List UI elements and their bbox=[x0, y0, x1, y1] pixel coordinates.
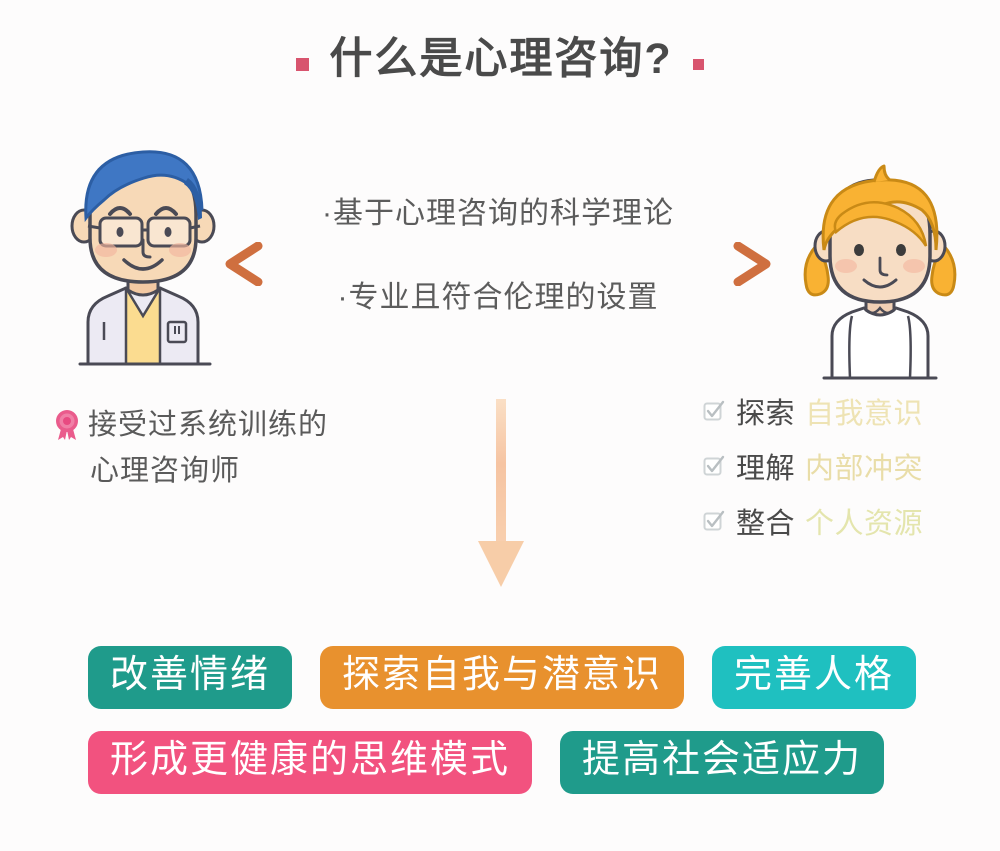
counselor-caption-row: 接受过系统训练的 bbox=[52, 404, 412, 446]
infographic-canvas: 什么是心理咨询? bbox=[0, 0, 1000, 851]
checklist-item: 整合 个人资源 bbox=[702, 500, 962, 542]
relationship-arrow-line-1: ·基于心理咨询的科学理论 bbox=[322, 196, 674, 232]
relationship-arrow-block: ·基于心理咨询的科学理论 ·专业且符合伦理的设置 bbox=[218, 196, 778, 316]
checklist-item-strong: 理解 bbox=[736, 445, 795, 487]
avatar-counselor-male bbox=[48, 126, 238, 366]
title-bullet-left-icon bbox=[296, 58, 309, 71]
checkbox-checked-icon bbox=[702, 399, 726, 423]
checklist-item-strong: 整合 bbox=[736, 500, 795, 542]
counselor-caption: 接受过系统训练的 心理咨询师 bbox=[52, 404, 412, 492]
outcome-tags: 改善情绪 探索自我与潜意识 完善人格 形成更健康的思维模式 提高社会适应力 bbox=[0, 646, 1000, 794]
page-title: 什么是心理咨询? bbox=[329, 36, 672, 83]
outcome-tags-row-1: 改善情绪 探索自我与潜意识 完善人格 bbox=[0, 646, 1000, 709]
counselor-caption-line-2-wrap: 心理咨询师 bbox=[52, 450, 412, 492]
counselor-caption-line-1: 接受过系统训练的 bbox=[88, 404, 328, 446]
outcome-tag[interactable]: 探索自我与潜意识 bbox=[320, 646, 684, 709]
title-bullet-right-icon bbox=[693, 59, 704, 70]
outcome-tag[interactable]: 改善情绪 bbox=[88, 646, 292, 709]
relationship-arrow-text-lines: ·基于心理咨询的科学理论 ·专业且符合伦理的设置 bbox=[268, 196, 728, 316]
outcome-tag[interactable]: 形成更健康的思维模式 bbox=[88, 731, 532, 794]
checklist-item-faint: 内部冲突 bbox=[805, 445, 923, 487]
arrow-down-icon bbox=[468, 393, 534, 593]
checkbox-checked-icon bbox=[702, 509, 726, 533]
checklist-item-faint: 自我意识 bbox=[805, 390, 923, 432]
outcome-tags-row-2: 形成更健康的思维模式 提高社会适应力 bbox=[0, 731, 1000, 794]
checkbox-checked-icon bbox=[702, 454, 726, 478]
outcome-tag[interactable]: 完善人格 bbox=[712, 646, 916, 709]
checklist-item-faint: 个人资源 bbox=[805, 500, 923, 542]
checklist-item: 理解 内部冲突 bbox=[702, 445, 962, 487]
client-goals-checklist: 探索 自我意识 理解 内部冲突 整合 个人资源 bbox=[702, 390, 962, 542]
avatar-client-female bbox=[780, 150, 980, 380]
checklist-item-strong: 探索 bbox=[736, 390, 795, 432]
counselor-caption-line-2: 心理咨询师 bbox=[90, 455, 240, 487]
client-female-illustration-icon bbox=[780, 150, 980, 380]
page-title-row: 什么是心理咨询? bbox=[0, 36, 1000, 83]
relationship-arrow-line-2: ·专业且符合伦理的设置 bbox=[338, 280, 659, 316]
outcome-tag[interactable]: 提高社会适应力 bbox=[560, 731, 884, 794]
badge-rosette-icon bbox=[52, 409, 82, 441]
counselor-male-illustration-icon bbox=[48, 126, 238, 366]
checklist-item: 探索 自我意识 bbox=[702, 390, 962, 432]
flow-arrow-down bbox=[468, 393, 534, 593]
